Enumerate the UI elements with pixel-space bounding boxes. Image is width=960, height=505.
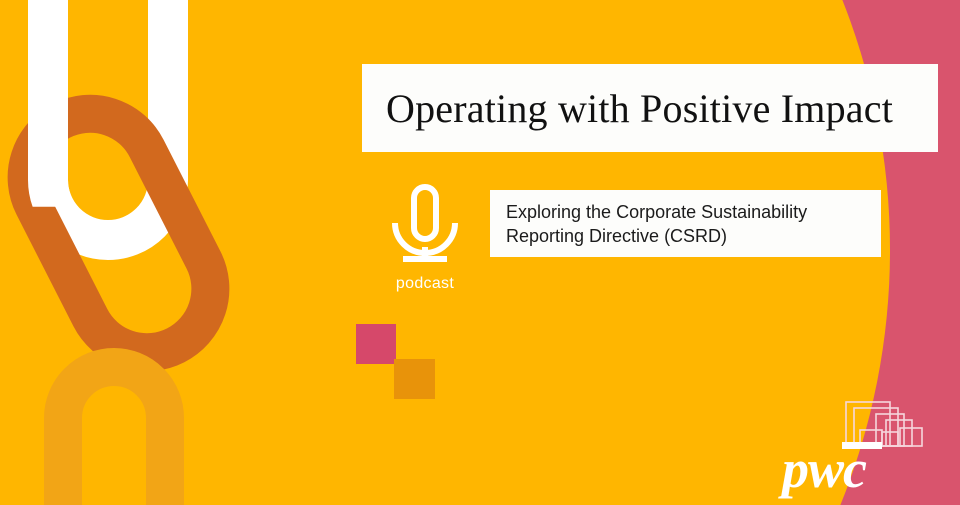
podcast-label: podcast bbox=[373, 275, 477, 293]
microphone-icon bbox=[387, 183, 463, 267]
subtitle-line-2: Reporting Directive (CSRD) bbox=[506, 224, 881, 248]
pwc-logo: pwc bbox=[782, 398, 942, 493]
decorative-square-orange bbox=[394, 359, 435, 399]
decorative-square-pink bbox=[356, 324, 396, 364]
page-title: Operating with Positive Impact bbox=[362, 85, 893, 132]
podcast-badge: podcast bbox=[373, 183, 477, 293]
subtitle-line-1: Exploring the Corporate Sustainability bbox=[506, 200, 881, 224]
pwc-wordmark: pwc bbox=[782, 442, 866, 496]
subtitle-banner: Exploring the Corporate Sustainability R… bbox=[490, 190, 881, 257]
podcast-cover-artwork: Operating with Positive Impact Exploring… bbox=[0, 0, 960, 505]
chain-link-amber bbox=[44, 348, 184, 505]
title-banner: Operating with Positive Impact bbox=[362, 64, 938, 152]
